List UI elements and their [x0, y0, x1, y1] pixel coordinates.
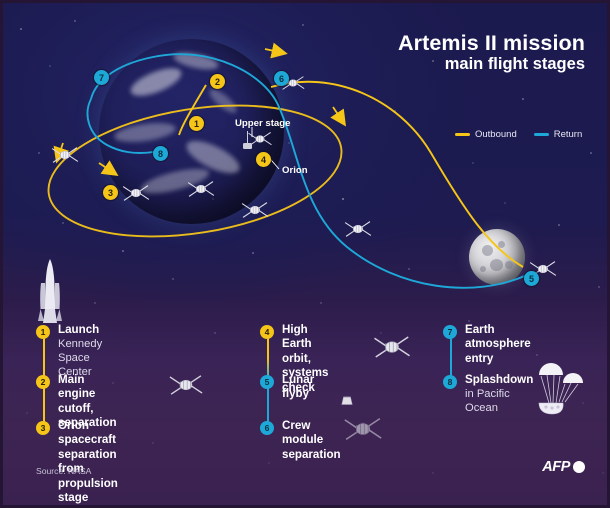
- key-title-7: Earth: [465, 323, 531, 337]
- key-text-7: Earth atmosphere entry: [465, 323, 531, 366]
- key-badge-4: 4: [260, 325, 274, 339]
- map-badge-4: 4: [256, 152, 271, 167]
- key-column-3: 7 Earth atmosphere entry 8 Splashdown in…: [443, 319, 603, 439]
- stage-key: 1 Launch Kennedy Space Center 2 Main eng…: [3, 319, 610, 469]
- key-title-1: Launch: [58, 323, 102, 337]
- source-credit: Source: NASA: [36, 466, 91, 476]
- orion-label: Orion: [282, 165, 308, 176]
- afp-logo: AFP: [542, 459, 585, 475]
- map-badge-8: 8: [153, 146, 168, 161]
- key-title-4: High Earth orbit,: [282, 323, 328, 366]
- afp-wordmark: AFP: [542, 459, 570, 475]
- key-badge-3: 3: [36, 421, 50, 435]
- legend-item-return: Return: [534, 129, 583, 140]
- infographic-artemis-ii: Artemis II mission main flight stages Ou…: [0, 0, 610, 508]
- page-title: Artemis II mission: [398, 31, 585, 55]
- key-text-8: Splashdown in Pacific Ocean: [465, 373, 533, 415]
- key-text-5: Lunar flyby: [282, 373, 314, 402]
- map-badge-6: 6: [274, 71, 289, 86]
- map-badge-2: 2: [210, 74, 225, 89]
- path-legend: Outbound Return: [455, 129, 582, 140]
- afp-dot-icon: [573, 461, 585, 473]
- legend-swatch-return: [534, 133, 549, 136]
- key-title-6b: separation: [282, 448, 341, 462]
- key-badge-8: 8: [443, 375, 457, 389]
- key-badge-5: 5: [260, 375, 274, 389]
- key-column-2: 4 High Earth orbit, systems check 5 Luna…: [260, 319, 435, 439]
- upper-stage-icon: [243, 131, 252, 149]
- key-title-2: Main engine cutoff,: [58, 373, 117, 416]
- key-detail-8b: Ocean: [465, 401, 533, 415]
- key-title-7b: atmosphere entry: [465, 337, 531, 366]
- key-text-6: Crew module separation: [282, 419, 341, 462]
- upper-stage-label: Upper stage: [235, 118, 290, 129]
- legend-label-outbound: Outbound: [475, 129, 517, 140]
- map-badge-1: 1: [189, 116, 204, 131]
- key-column-1: 1 Launch Kennedy Space Center 2 Main eng…: [36, 319, 251, 439]
- legend-item-outbound: Outbound: [455, 129, 517, 140]
- key-title-3: Orion spacecraft separation: [58, 419, 118, 462]
- key-title-6: Crew module: [282, 419, 341, 448]
- legend-label-return: Return: [554, 129, 583, 140]
- key-text-3: Orion spacecraft separation from propuls…: [58, 419, 118, 506]
- key-badge-6: 6: [260, 421, 274, 435]
- legend-swatch-outbound: [455, 133, 470, 136]
- sls-rocket-icon: [38, 259, 62, 323]
- map-badge-5: 5: [524, 271, 539, 286]
- key-badge-1: 1: [36, 325, 50, 339]
- key-detail-8: in Pacific: [465, 387, 533, 401]
- map-badge-7: 7: [94, 70, 109, 85]
- key-badge-7: 7: [443, 325, 457, 339]
- key-text-1: Launch Kennedy Space Center: [58, 323, 102, 379]
- map-badge-3: 3: [103, 185, 118, 200]
- key-title-5b: flyby: [282, 387, 314, 401]
- key-title-5: Lunar: [282, 373, 314, 387]
- key-badge-2: 2: [36, 375, 50, 389]
- key-title-8: Splashdown: [465, 373, 533, 387]
- page-subtitle: main flight stages: [445, 55, 585, 74]
